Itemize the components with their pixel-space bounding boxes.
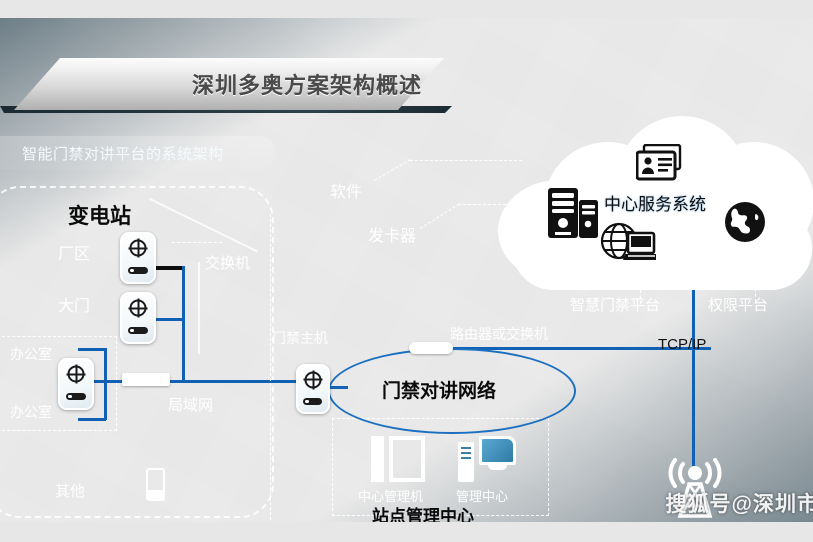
card-slot-icon [303, 398, 322, 405]
label-switch: 交换机 [205, 252, 250, 273]
label-access-host: 门禁主机 [272, 328, 328, 348]
software-leader-diagonal [374, 159, 411, 181]
reader-ring-icon [68, 366, 85, 383]
label-central-service-system: 中心服务系统 [604, 190, 706, 215]
globe-icon [723, 200, 767, 249]
wire-factory-device [156, 266, 184, 270]
label-tcpip: TCP/IP [658, 336, 706, 353]
globe-laptop-icon [600, 221, 656, 270]
device-body [120, 232, 156, 284]
access-control-host-icon[interactable] [296, 364, 330, 414]
presentation-slide: 变电站 厂区 大门 办公室 办公室 其他 局域网 交换机 [0, 18, 813, 522]
subtitle-pill: 智能门禁对讲平台的系统架构 [0, 136, 276, 170]
pc-tower [458, 442, 474, 482]
access-control-device-icon[interactable] [58, 358, 94, 410]
label-office-top: 办公室 [10, 344, 52, 364]
label-smart-access-platform: 智慧门禁平台 [570, 294, 660, 315]
device-body [120, 292, 156, 344]
label-factory-area: 厂区 [58, 240, 90, 264]
wire-office-riser [104, 348, 107, 420]
page-title: 深圳多奥方案架构概述 [192, 68, 422, 100]
label-office-bottom: 办公室 [10, 402, 52, 422]
access-control-device-icon[interactable] [120, 292, 156, 344]
router-switch-icon [409, 342, 453, 354]
wire-office-top [78, 348, 106, 351]
label-card-issuer: 发卡器 [368, 222, 416, 246]
wire-office-bottom [78, 418, 106, 421]
label-permission-platform: 权限平台 [708, 294, 768, 315]
device-body [58, 358, 94, 410]
lan-switch-icon [122, 373, 170, 386]
intercom-screen [389, 436, 425, 482]
top-letterbox-band [0, 0, 813, 18]
label-other: 其他 [55, 480, 85, 501]
label-software: 软件 [330, 178, 362, 202]
pc-stand [488, 465, 507, 470]
label-lan: 局域网 [168, 394, 213, 415]
card-issuer-leader-diagonal [420, 204, 460, 229]
server-rack-icon [547, 186, 599, 245]
bottom-letterbox-band [0, 522, 813, 542]
access-control-device-icon[interactable] [120, 232, 156, 284]
switch-dashed-leader [172, 242, 222, 243]
wire-riser [182, 266, 185, 380]
card-slot-icon [66, 393, 86, 400]
subtitle-text: 智能门禁对讲平台的系统架构 [22, 143, 224, 164]
device-body [296, 364, 330, 414]
card-slot-icon [128, 327, 148, 334]
label-station-management-center: 站点管理中心 [372, 502, 474, 522]
wire-gate-device [156, 318, 184, 321]
label-access-network: 门禁对讲网络 [382, 376, 496, 403]
slide-stage: 变电站 厂区 大门 办公室 办公室 其他 局域网 交换机 [0, 0, 813, 542]
reader-ring-icon [130, 240, 147, 257]
wire-tcpip-vertical [692, 280, 695, 466]
label-main-gate: 大门 [58, 292, 90, 316]
switch-leader-line [198, 262, 200, 354]
id-card-icon [636, 144, 682, 187]
intercom-speaker-bar [371, 436, 384, 482]
card-slot-icon [128, 267, 148, 274]
intercom-panel-icon [371, 436, 425, 482]
desktop-computer-icon [458, 436, 516, 482]
watermark: 搜狐号@深圳市 [666, 488, 813, 518]
title-banner: 深圳多奥方案架构概述 [14, 58, 444, 110]
pc-monitor [479, 436, 516, 465]
mobile-phone-icon [146, 468, 165, 501]
wire-lan-trunk [182, 380, 298, 383]
reader-ring-icon [130, 300, 147, 317]
label-router-or-switch: 路由器或交换机 [450, 324, 548, 344]
zone-divider-dashed [270, 214, 271, 520]
reader-ring-icon [305, 371, 322, 388]
substation-title: 变电站 [68, 200, 131, 230]
